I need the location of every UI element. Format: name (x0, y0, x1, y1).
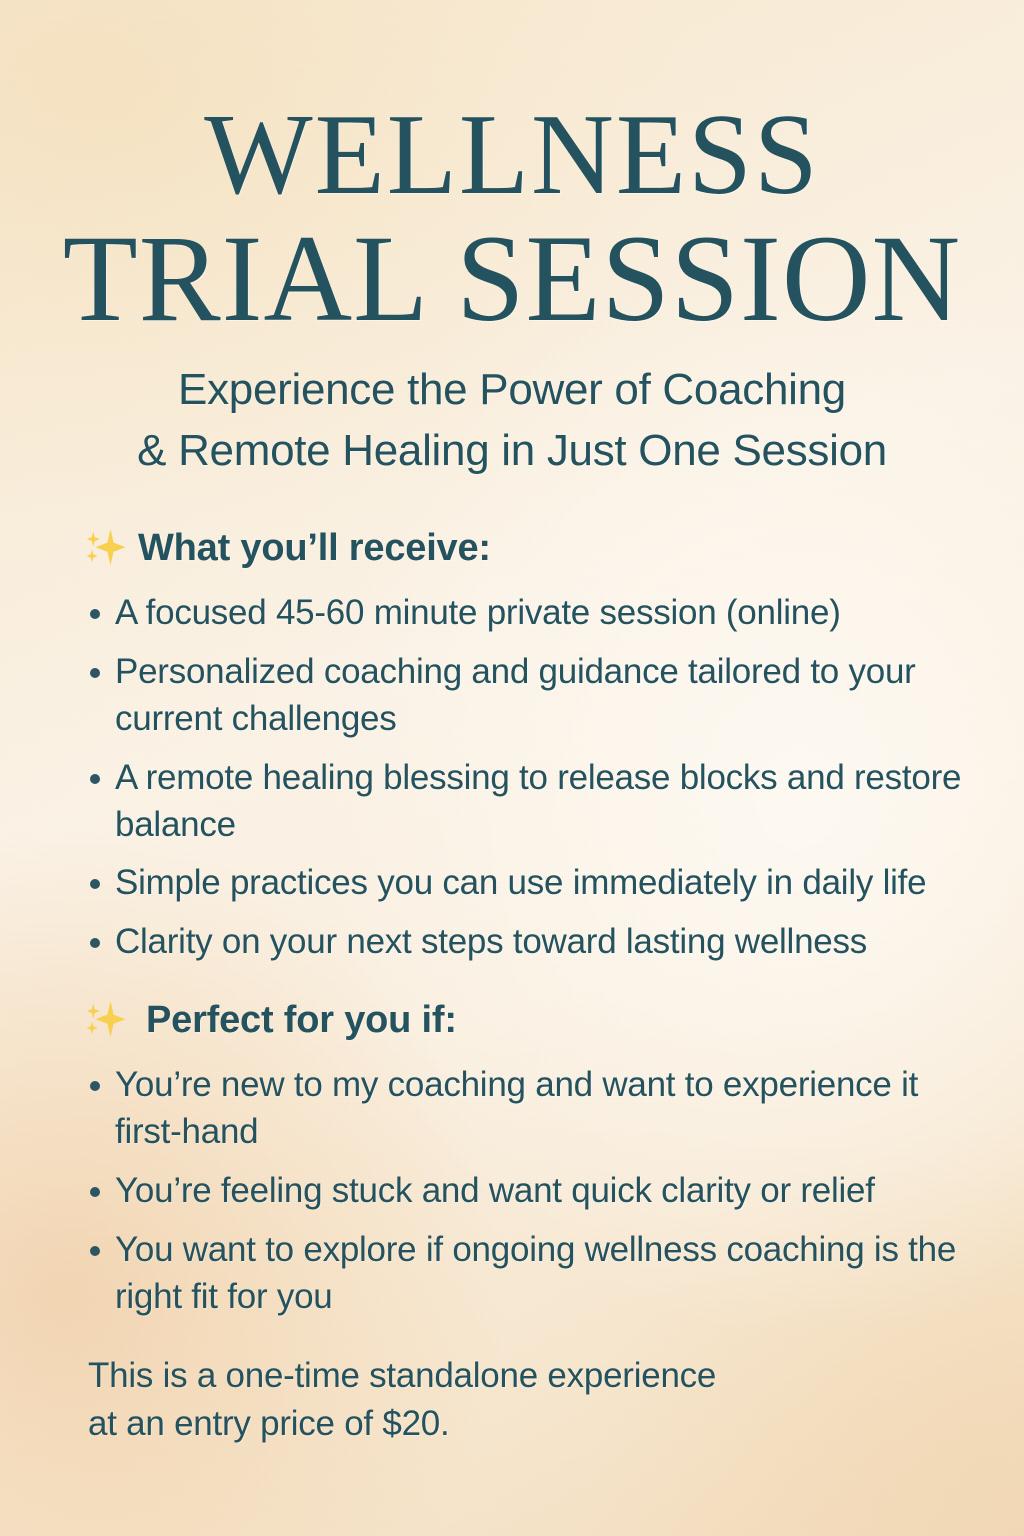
subtitle-line-1: Experience the Power of Coaching (0, 360, 1024, 421)
section-header-receive: What you’ll receive: (80, 524, 992, 572)
section-perfect-for-you-if: Perfect for you if: You’re new to my coa… (80, 996, 992, 1320)
list-item: You’re feeling stuck and want quick clar… (80, 1168, 992, 1215)
list-item: A focused 45-60 minute private session (… (80, 590, 992, 637)
page-subtitle: Experience the Power of Coaching & Remot… (0, 360, 1024, 481)
section-title-perfect: Perfect for you if: (146, 999, 457, 1042)
poster-content: WELLNESS TRIAL SESSION Experience the Po… (0, 0, 1024, 1536)
receive-list: A focused 45-60 minute private session (… (80, 590, 992, 966)
subtitle-line-2: & Remote Healing in Just One Session (0, 421, 1024, 482)
section-title-receive: What you’ll receive: (138, 527, 491, 570)
title-line-1: WELLNESS (5, 96, 1019, 214)
section-what-youll-receive: What you’ll receive: A focused 45-60 min… (80, 524, 992, 966)
list-item: Personalized coaching and guidance tailo… (80, 649, 992, 743)
wellness-trial-session-poster: WELLNESS TRIAL SESSION Experience the Po… (0, 0, 1024, 1536)
page-title: WELLNESS TRIAL SESSION (0, 96, 1024, 343)
list-item: A remote healing blessing to release blo… (80, 755, 992, 849)
sparkles-icon (80, 996, 128, 1044)
list-item: Simple practices you can use immediately… (80, 860, 992, 907)
section-header-perfect: Perfect for you if: (80, 996, 992, 1044)
closing-line-2: at an entry price of $20. (88, 1400, 988, 1448)
closing-line-1: This is a one-time standalone experience (88, 1352, 988, 1400)
list-item: You want to explore if ongoing wellness … (80, 1227, 992, 1321)
title-line-2: TRIAL SESSION (5, 216, 1019, 342)
sparkles-icon (80, 524, 128, 572)
list-item: You’re new to my coaching and want to ex… (80, 1062, 992, 1156)
list-item: Clarity on your next steps toward lastin… (80, 919, 992, 966)
closing-statement: This is a one-time standalone experience… (88, 1352, 988, 1449)
perfect-list: You’re new to my coaching and want to ex… (80, 1062, 992, 1320)
